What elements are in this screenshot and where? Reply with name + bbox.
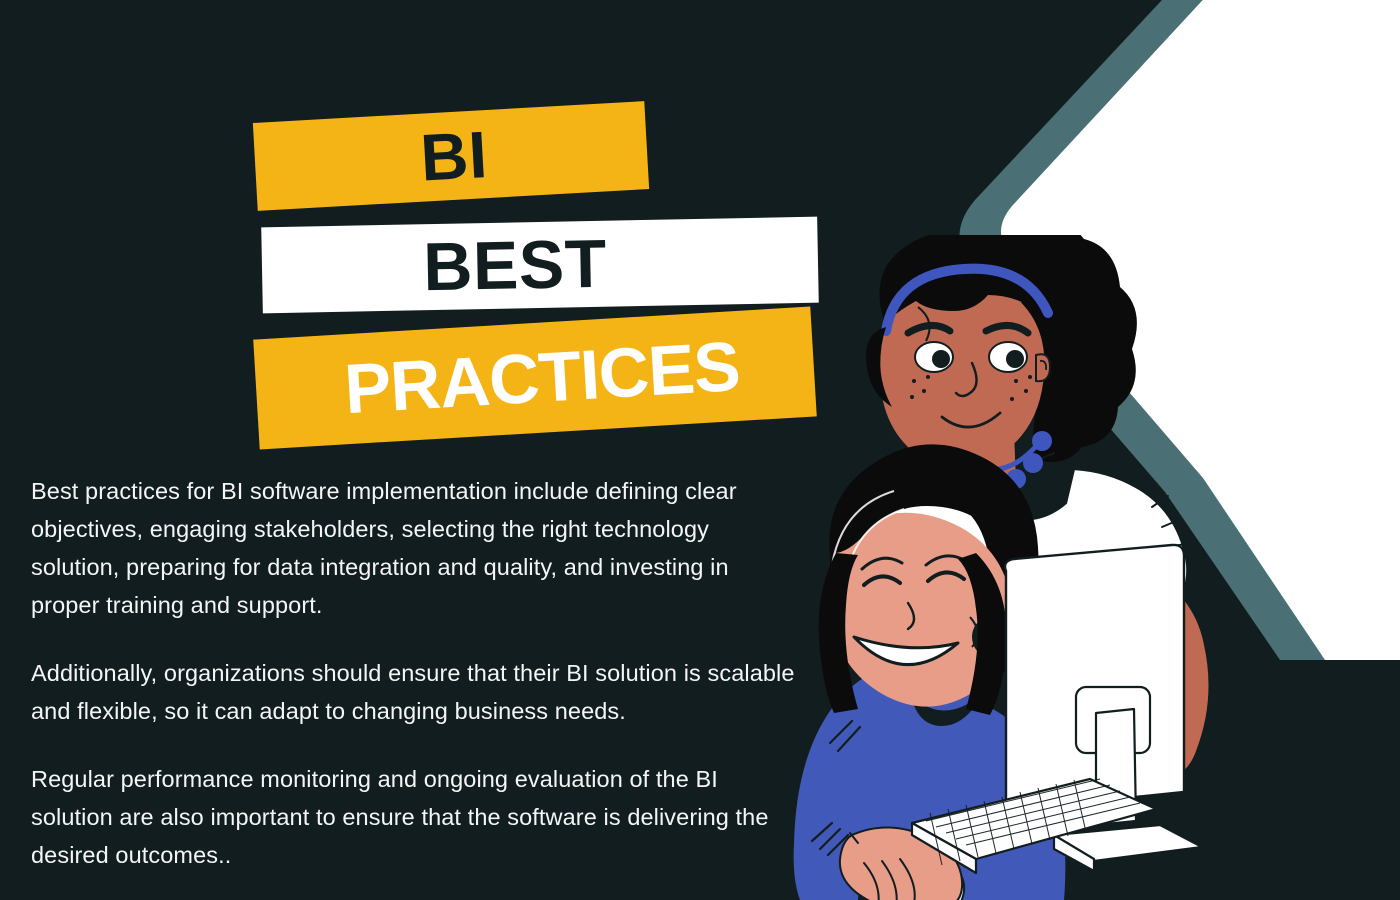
seated-woman-face	[819, 474, 1014, 715]
body-paragraph-2: Additionally, organizations should ensur…	[31, 654, 801, 730]
body-paragraph-3: Regular performance monitoring and ongoi…	[31, 760, 801, 874]
headline-text-best: BEST	[423, 230, 608, 302]
headline-banner-best: BEST	[261, 217, 819, 314]
standing-woman-face	[866, 258, 1074, 469]
headline-banner-practices: PRACTICES	[253, 307, 817, 450]
keyboard	[912, 779, 1156, 873]
headline-text-practices: PRACTICES	[343, 331, 742, 424]
illustration-two-women-at-computer	[790, 235, 1400, 900]
background-chevron-shape	[950, 0, 1400, 660]
standing-woman-blouse	[846, 432, 1187, 664]
headline-banner-bi: BI	[253, 101, 649, 211]
seated-woman-sweater	[794, 631, 1066, 900]
standing-woman-necklace	[934, 431, 1052, 495]
poster-canvas: BI BEST PRACTICES Best practices for BI …	[0, 0, 1400, 900]
seated-woman-hand-on-mouse	[840, 827, 964, 900]
body-copy-block: Best practices for BI software implement…	[31, 472, 801, 874]
headline-text-bi: BI	[413, 121, 490, 191]
standing-woman-hair-back	[880, 235, 1137, 462]
body-paragraph-1: Best practices for BI software implement…	[31, 472, 801, 624]
standing-woman-arm	[1096, 567, 1209, 779]
computer-monitor	[1005, 545, 1202, 871]
seated-woman-hair-back	[829, 444, 1038, 675]
